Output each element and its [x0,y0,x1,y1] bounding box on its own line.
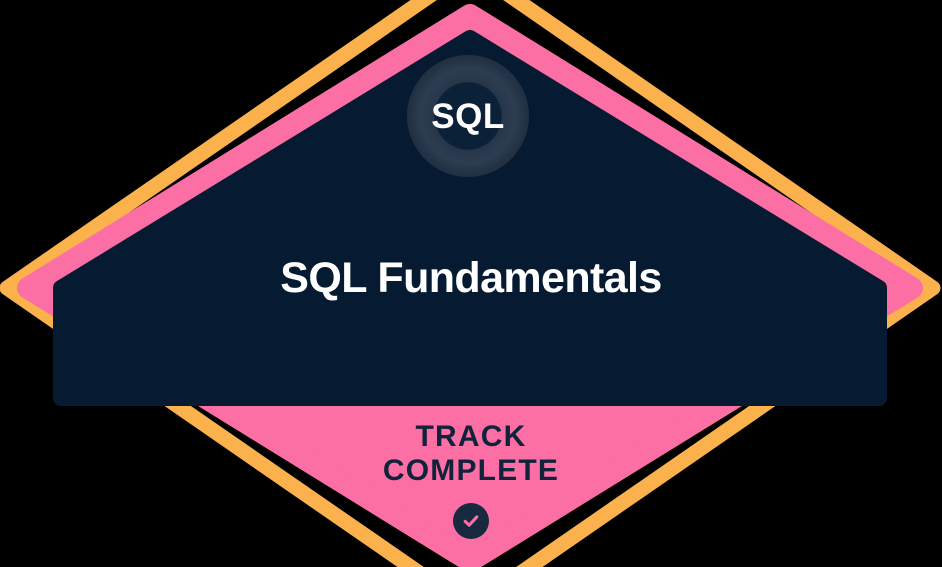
status-line-track: TRACK [0,420,942,454]
check-icon [453,503,489,539]
sql-emblem: SQL [407,55,529,177]
track-title: SQL Fundamentals [0,254,942,304]
status-line-complete: COMPLETE [0,454,942,488]
track-completion-status: TRACK COMPLETE [0,420,942,539]
sql-emblem-label: SQL [431,99,504,134]
track-badge-card: SQL SQL Fundamentals TRACK COMPLETE [0,0,942,567]
